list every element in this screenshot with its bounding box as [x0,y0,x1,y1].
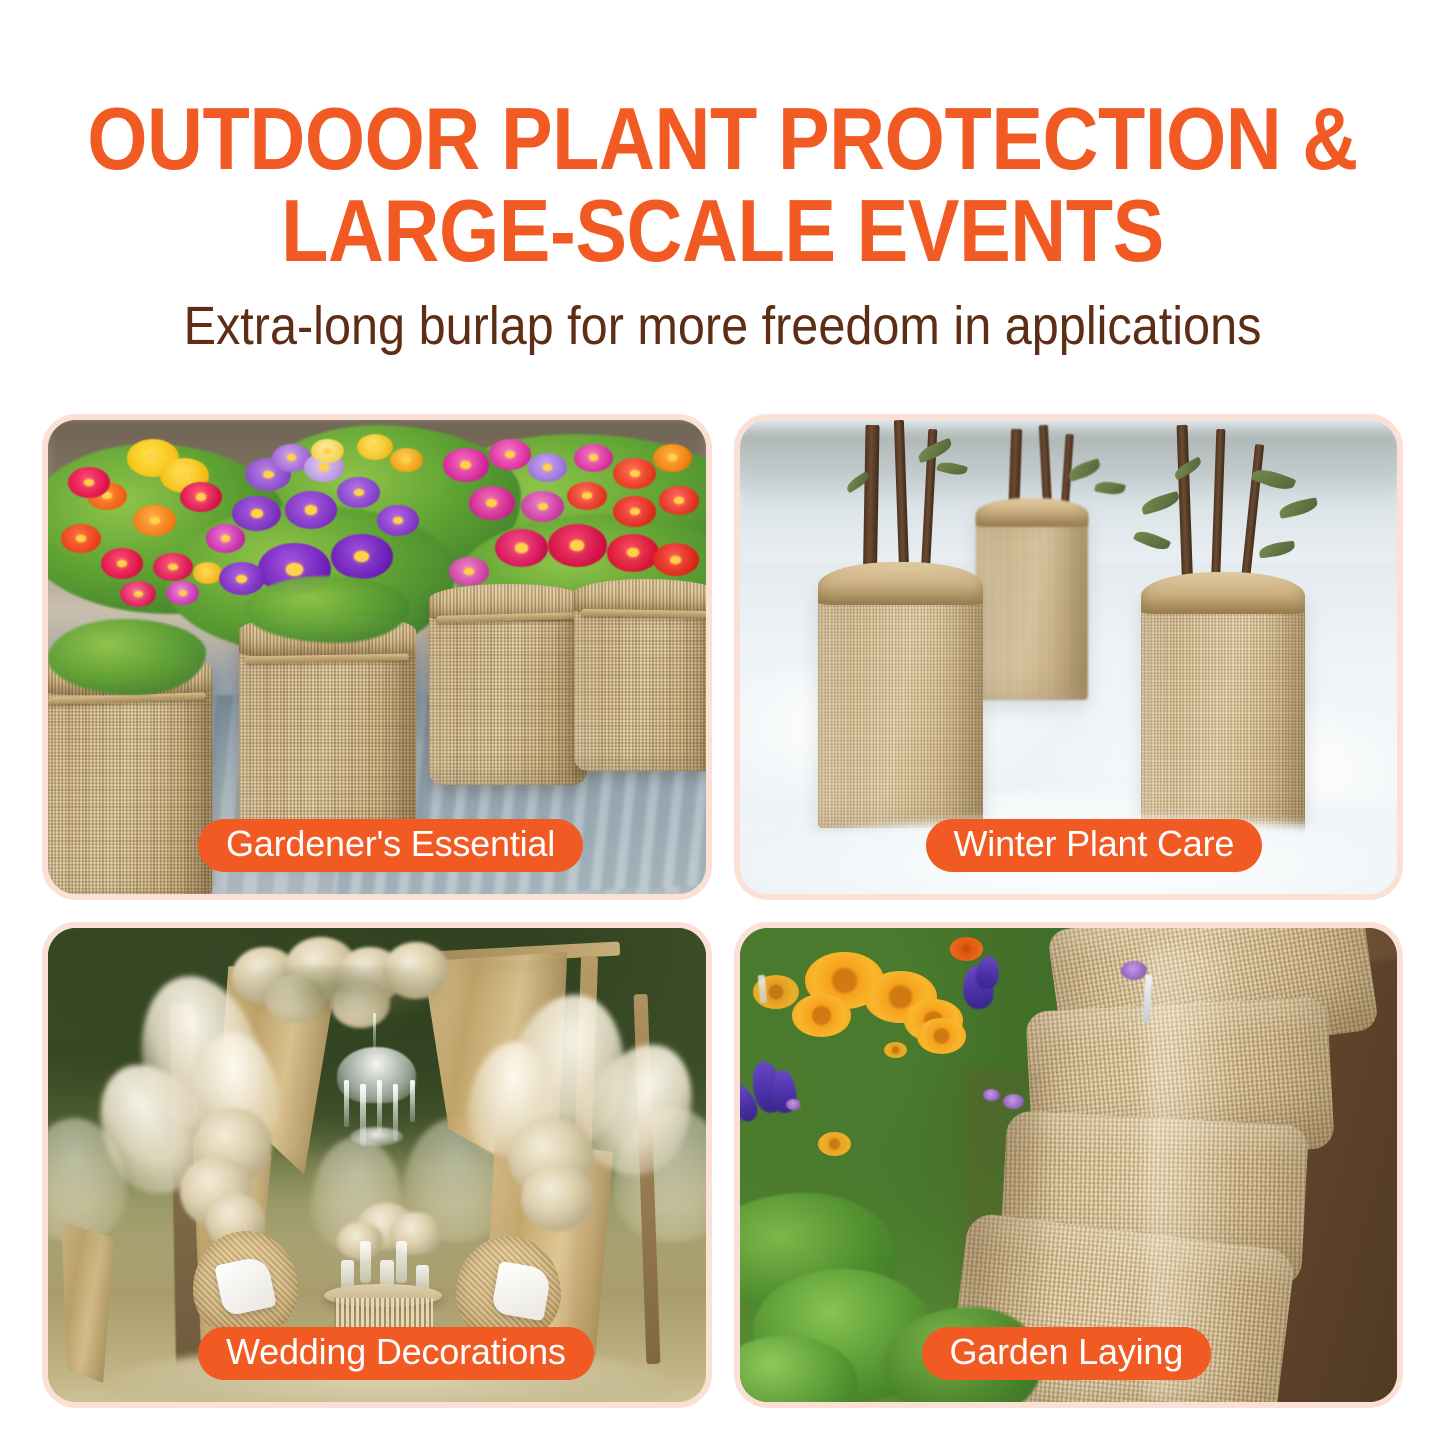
feature-panel-grid: Gardener's Essential [42,414,1403,1408]
product-infographic: OUTDOOR PLANT PROTECTION & LARGE-SCALE E… [0,0,1445,1445]
header: OUTDOOR PLANT PROTECTION & LARGE-SCALE E… [0,0,1445,355]
panel-garden-laying[interactable]: Garden Laying [734,922,1404,1408]
panel-winter-plant-care[interactable]: Winter Plant Care [734,414,1404,900]
badge-gardeners-essential: Gardener's Essential [198,819,583,872]
badge-winter-plant-care: Winter Plant Care [926,819,1263,872]
page-subtitle: Extra-long burlap for more freedom in ap… [72,298,1373,355]
page-title-line-2: LARGE-SCALE EVENTS [87,188,1359,274]
badge-wedding-decorations: Wedding Decorations [198,1327,594,1380]
panel-wedding-decorations[interactable]: Wedding Decorations [42,922,712,1408]
panel-gardeners-essential[interactable]: Gardener's Essential [42,414,712,900]
page-title-line-1: OUTDOOR PLANT PROTECTION & [87,96,1359,182]
badge-garden-laying: Garden Laying [922,1327,1212,1380]
